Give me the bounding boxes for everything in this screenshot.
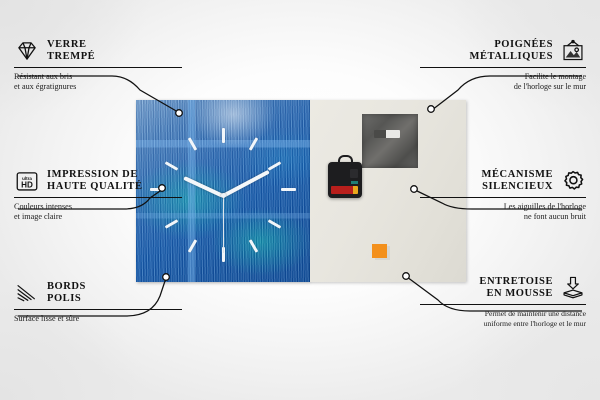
foam-spacer [372, 244, 387, 258]
diamond-icon [14, 38, 40, 64]
feature-divider [14, 197, 182, 198]
feature-header: ultra HD IMPRESSION DE HAUTE QUALITÉ [14, 168, 182, 194]
feature-header: BORDS POLIS [14, 280, 182, 306]
svg-text:HD: HD [21, 181, 33, 190]
feature-verre-trempe: VERRE TREMPÉ Résistant aux bris et aux é… [14, 38, 182, 92]
feature-header: VERRE TREMPÉ [14, 38, 182, 64]
feature-subtitle-line1: Résistant aux bris [14, 72, 182, 82]
product-image [136, 100, 466, 282]
clock-tick-12 [222, 128, 225, 143]
feature-poignees-metalliques: POIGNÉES MÉTALLIQUES Facilite le montage… [420, 38, 586, 92]
feature-title: ENTRETOISE EN MOUSSE [479, 276, 553, 301]
feature-subtitle-line1: Facilite le montage [420, 72, 586, 82]
feature-subtitle-line1: Surface lisse et sûre [14, 314, 182, 324]
feature-impression-hd: ultra HD IMPRESSION DE HAUTE QUALITÉ Cou… [14, 168, 182, 222]
feature-divider [420, 67, 586, 68]
battery [331, 186, 358, 194]
feature-header: ENTRETOISE EN MOUSSE [420, 275, 586, 301]
foam-spacer-icon [560, 275, 586, 301]
feature-subtitle-line2: de l'horloge sur le mur [420, 82, 586, 92]
gear-icon [560, 168, 586, 194]
feature-divider [14, 67, 182, 68]
picture-hanger-icon [560, 38, 586, 64]
feature-subtitle-line1: Permet de maintenir une distance [420, 309, 586, 319]
clock-second-hand [223, 195, 225, 253]
feature-entretoise-en-mousse: ENTRETOISE EN MOUSSE Permet de maintenir… [420, 275, 586, 329]
mechanism-chip [350, 169, 358, 178]
infographic-canvas: VERRE TREMPÉ Résistant aux bris et aux é… [0, 0, 600, 400]
clock-tick-3 [281, 188, 296, 191]
metal-hanger-plate [362, 114, 418, 168]
clock-hand-hub [221, 193, 226, 198]
clock-mechanism [328, 162, 362, 198]
feature-subtitle-line2: et image claire [14, 212, 182, 222]
feature-title: POIGNÉES MÉTALLIQUES [470, 39, 553, 64]
feature-bords-polis: BORDS POLIS Surface lisse et sûre [14, 280, 182, 324]
feature-mecanisme-silencieux: MÉCANISME SILENCIEUX Les aiguilles de l'… [420, 168, 586, 222]
feature-subtitle-line2: uniforme entre l'horloge et le mur [420, 319, 586, 329]
feature-header: MÉCANISME SILENCIEUX [420, 168, 586, 194]
ultra-hd-icon: ultra HD [14, 168, 40, 194]
feature-divider [420, 197, 586, 198]
feature-subtitle-line2: ne font aucun bruit [420, 212, 586, 222]
mechanism-hanging-loop [338, 155, 353, 164]
feature-divider [420, 304, 586, 305]
feature-subtitle-line1: Les aiguilles de l'horloge [420, 202, 586, 212]
feature-title: IMPRESSION DE HAUTE QUALITÉ [47, 169, 143, 194]
feature-title: BORDS POLIS [47, 281, 86, 306]
feature-title: VERRE TREMPÉ [47, 39, 95, 64]
polished-edge-icon [14, 280, 40, 306]
feature-divider [14, 309, 182, 310]
feature-subtitle-line2: et aux égratignures [14, 82, 182, 92]
feature-title: MÉCANISME SILENCIEUX [482, 169, 553, 194]
feature-subtitle-line1: Couleurs intenses [14, 202, 182, 212]
feature-header: POIGNÉES MÉTALLIQUES [420, 38, 586, 64]
hanger-slot [374, 130, 400, 138]
mechanism-marking [351, 181, 358, 184]
